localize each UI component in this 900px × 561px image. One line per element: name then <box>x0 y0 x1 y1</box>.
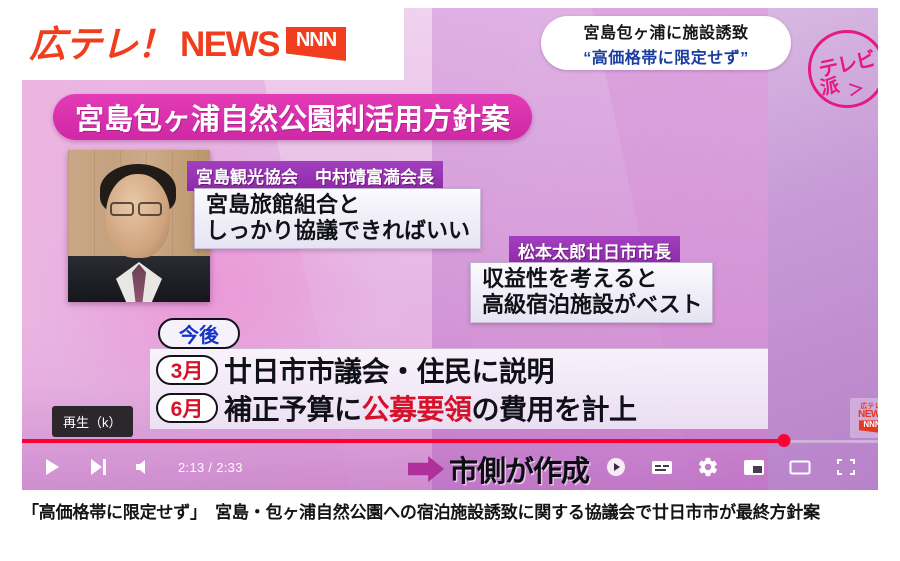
station-logo-wave-icon: ＞ <box>846 75 865 101</box>
schedule-month-chip: 6月 <box>156 393 218 423</box>
watermark-nnn-icon: NNN <box>859 420 878 433</box>
speaker-name-text: 宮島観光協会 中村靖富満会長 <box>196 163 434 188</box>
speaker-quote-line1: 宮島旅館組合と <box>206 192 470 218</box>
schedule-month-label: 3月 <box>171 355 204 385</box>
broadcast-headline-text: 宮島包ヶ浦自然公園利活用方針案 <box>75 96 510 138</box>
schedule-text-highlight: 公募要領 <box>362 394 472 425</box>
schedule-badge-label: 今後 <box>179 319 219 348</box>
speaker-name-text: 松本太郎廿日市市長 <box>518 238 671 263</box>
watermark-line2: NEWS <box>858 410 878 421</box>
schedule-row-text: 廿日市市議会・住民に説明 <box>224 350 554 390</box>
play-button-tooltip: 再生（k） <box>52 406 133 437</box>
speaker-quote-line2: 高級宿泊施設がベスト <box>482 292 702 318</box>
video-player[interactable]: 広テレ！ NEWS NNN 宮島包ヶ浦自然公園利活用方針案 <box>22 8 878 490</box>
schedule-text-before: 廿日市市議会・住民に説明 <box>224 356 554 387</box>
schedule-month-chip: 3月 <box>156 355 218 385</box>
video-frame: 広テレ！ NEWS NNN 宮島包ヶ浦自然公園利活用方針案 <box>22 8 768 490</box>
schedule-row: 6月 補正予算に公募要領の費用を計上 <box>150 389 768 427</box>
progress-played <box>22 439 784 443</box>
photo-face <box>106 174 170 258</box>
broadcaster-brand-strip: 広テレ！ NEWS NNN <box>22 8 404 80</box>
player-controls-right <box>594 444 878 490</box>
station-logo-icon: テレビ 派 ＞ <box>804 26 878 112</box>
article-headline-text: 「高価格帯に限定せず」 宮島・包ヶ浦自然公園への宿泊施設誘致に関する協議会で廿日… <box>22 500 882 526</box>
speaker-quote-line2: しっかり協議できればいい <box>206 218 470 244</box>
autoplay-toggle[interactable] <box>594 444 638 490</box>
miniplayer-icon[interactable] <box>732 444 776 490</box>
news-bug-line1: 宮島包ヶ浦に施設誘致 <box>583 19 748 43</box>
settings-gear-icon[interactable] <box>686 444 730 490</box>
news-topic-bug: 宮島包ヶ浦に施設誘致 “高価格帯に限定せず” <box>541 16 791 70</box>
speaker-quote-matsumoto: 収益性を考えると 高級宿泊施設がベスト <box>470 262 713 323</box>
page-root: 広テレ！ NEWS NNN 宮島包ヶ浦自然公園利活用方針案 <box>0 0 900 561</box>
broadcaster-name-jp: 広テレ！ <box>29 26 173 63</box>
fullscreen-icon[interactable] <box>824 444 868 490</box>
schedule-badge: 今後 <box>158 318 240 349</box>
schedule-month-label: 6月 <box>171 393 204 423</box>
play-button[interactable] <box>30 444 74 490</box>
volume-button[interactable] <box>122 444 166 490</box>
progress-scrubber-handle[interactable] <box>777 434 790 447</box>
video-progress-bar[interactable] <box>22 438 878 444</box>
speaker-name-banner-nakamura: 宮島観光協会 中村靖富満会長 <box>187 161 443 191</box>
photo-glasses-left <box>110 202 134 216</box>
player-control-bar: 2:13 / 2:33 <box>22 444 878 490</box>
player-controls-left: 2:13 / 2:33 <box>22 444 255 490</box>
article-headline: 「高価格帯に限定せず」 宮島・包ヶ浦自然公園への宿泊施設誘致に関する協議会で廿日… <box>22 500 882 526</box>
time-display: 2:13 / 2:33 <box>168 460 255 475</box>
schedule-row: 3月 廿日市市議会・住民に説明 <box>150 351 768 389</box>
broadcaster-watermark: 広テレ! NEWS NNN <box>850 398 878 438</box>
broadcaster-news-word: NEWS <box>180 27 279 62</box>
schedule-text-before: 補正予算に <box>224 394 362 425</box>
schedule-text-after: の費用を計上 <box>472 394 637 425</box>
schedule-row-text: 補正予算に公募要領の費用を計上 <box>224 388 637 428</box>
next-video-button[interactable] <box>76 444 120 490</box>
nnn-logo-icon: NNN <box>286 27 346 61</box>
broadcast-headline-pill: 宮島包ヶ浦自然公園利活用方針案 <box>53 94 532 140</box>
speaker-quote-nakamura: 宮島旅館組合と しっかり協議できればいい <box>194 188 481 249</box>
broadcaster-logo: 広テレ！ NEWS NNN <box>22 26 346 63</box>
speaker-quote-line1: 収益性を考えると <box>482 266 702 292</box>
theater-mode-icon[interactable] <box>778 444 822 490</box>
subtitles-icon[interactable] <box>640 444 684 490</box>
news-bug-line2: “高価格帯に限定せず” <box>583 44 749 68</box>
photo-glasses-right <box>138 202 162 216</box>
schedule-panel: 3月 廿日市市議会・住民に説明 6月 補正予算に公募要領の費用を計上 <box>150 348 768 429</box>
